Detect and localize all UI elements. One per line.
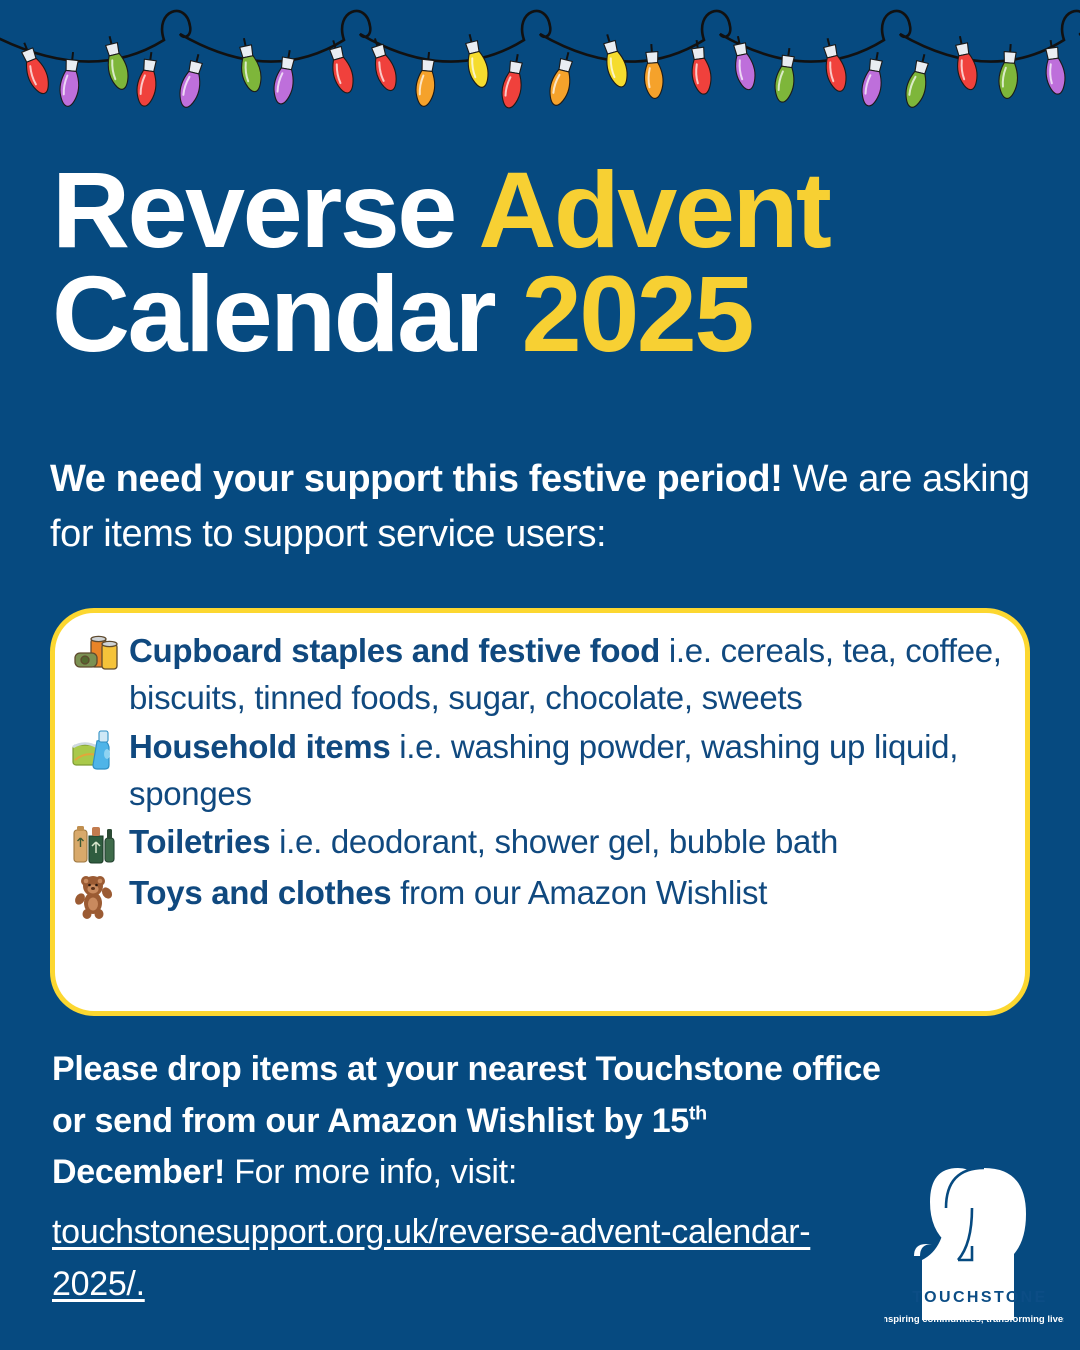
light-bulb bbox=[859, 51, 887, 108]
toiletries-bottles-icon bbox=[69, 822, 127, 868]
light-bulb bbox=[135, 51, 161, 108]
light-bulb bbox=[366, 36, 400, 94]
title-word-calendar: Calendar bbox=[52, 253, 522, 374]
closing-block: Please drop items at your nearest Touchs… bbox=[52, 1044, 882, 1310]
page-title: Reverse Advent Calendar 2025 bbox=[52, 158, 1062, 365]
light-bulb bbox=[819, 36, 850, 93]
closing-bold-part1: Please drop items at your nearest Touchs… bbox=[52, 1050, 881, 1140]
list-item: Household items i.e. washing powder, was… bbox=[69, 723, 1003, 818]
ordinal-suffix: th bbox=[689, 1102, 707, 1124]
closing-rest: For more info, visit: bbox=[225, 1153, 517, 1191]
closing-paragraph: Please drop items at your nearest Touchs… bbox=[52, 1044, 882, 1199]
list-item-text: Cupboard staples and festive food i.e. c… bbox=[129, 627, 1003, 722]
light-bulb bbox=[324, 38, 357, 95]
title-line-2: Calendar 2025 bbox=[52, 262, 1062, 366]
donation-items-card: Cupboard staples and festive food i.e. c… bbox=[50, 608, 1030, 1016]
light-bulb bbox=[101, 34, 132, 91]
list-item-bold: Toys and clothes bbox=[129, 874, 391, 911]
title-word-2025: 2025 bbox=[522, 253, 752, 374]
list-item-text: Toys and clothes from our Amazon Wishlis… bbox=[129, 869, 1003, 917]
list-item-text: Toiletries i.e. deodorant, shower gel, b… bbox=[129, 818, 1003, 866]
canned-food-icon bbox=[69, 631, 127, 677]
light-bulb bbox=[1041, 39, 1067, 96]
list-item-text: Household items i.e. washing powder, was… bbox=[129, 723, 1003, 818]
title-line-1: Reverse Advent bbox=[52, 158, 1062, 262]
light-bulb bbox=[951, 34, 980, 91]
teddy-bear-icon bbox=[69, 873, 127, 919]
light-bulb bbox=[546, 50, 577, 107]
donation-items-list: Cupboard staples and festive food i.e. c… bbox=[69, 627, 1003, 919]
list-item-rest: i.e. deodorant, shower gel, bubble bath bbox=[270, 823, 838, 860]
list-item-bold: Toiletries bbox=[129, 823, 270, 860]
list-item-bold: Cupboard staples and festive food bbox=[129, 632, 660, 669]
list-item: Cupboard staples and festive food i.e. c… bbox=[69, 627, 1003, 722]
light-bulb bbox=[902, 52, 933, 109]
light-bulb bbox=[998, 43, 1020, 99]
light-bulb bbox=[235, 36, 264, 93]
logo-tagline: inspiring communities, transforming live… bbox=[884, 1314, 1064, 1325]
logo-wordmark: TOUCHSTONE bbox=[912, 1289, 1047, 1306]
list-item: Toiletries i.e. deodorant, shower gel, b… bbox=[69, 818, 1003, 868]
light-bulb bbox=[773, 47, 799, 104]
list-item-bold: Household items bbox=[129, 728, 390, 765]
light-bulb bbox=[271, 49, 299, 106]
intro-paragraph: We need your support this festive period… bbox=[50, 452, 1050, 562]
intro-bold-lead: We need your support this festive period… bbox=[50, 458, 782, 500]
closing-bold-part2: December! bbox=[52, 1153, 225, 1191]
string-lights-banner bbox=[0, 0, 1080, 140]
website-link[interactable]: touchstonesupport.org.uk/reverse-advent-… bbox=[52, 1207, 882, 1310]
list-item-rest: from our Amazon Wishlist bbox=[391, 874, 767, 911]
light-bulb bbox=[176, 52, 207, 109]
poster-root: Reverse Advent Calendar 2025 We need you… bbox=[0, 0, 1080, 1350]
light-bulb bbox=[729, 34, 758, 91]
light-bulb bbox=[499, 53, 527, 110]
light-bulb bbox=[642, 43, 664, 99]
list-item: Toys and clothes from our Amazon Wishlis… bbox=[69, 869, 1003, 919]
touchstone-logo: TOUCHSTONE inspiring communities, transf… bbox=[884, 1136, 1064, 1336]
detergent-bottle-icon bbox=[69, 727, 127, 773]
